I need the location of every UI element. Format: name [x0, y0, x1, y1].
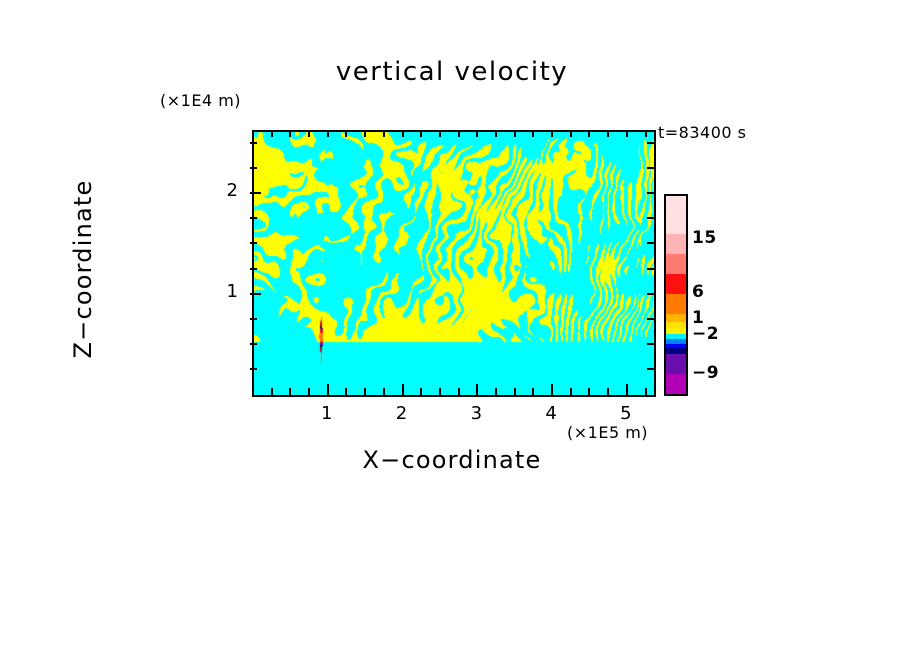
x-tick-label: 2 — [387, 403, 417, 424]
x-tick-top — [345, 130, 347, 137]
colorbar-band — [666, 196, 686, 234]
y-tick-right — [647, 268, 654, 270]
y-tick — [250, 217, 257, 219]
x-tick — [364, 388, 366, 395]
y-tick-right — [647, 167, 654, 169]
time-annotation: t=83400 s — [658, 123, 747, 142]
x-tick — [458, 388, 460, 395]
colorbar-band — [666, 274, 686, 294]
colorbar-band — [666, 314, 686, 322]
y-tick — [250, 368, 257, 370]
x-tick — [439, 388, 441, 395]
colorbar-tick-label: −2 — [692, 324, 719, 344]
colorbar-band — [666, 234, 686, 254]
y-tick-right — [647, 192, 654, 194]
y-tick — [250, 192, 261, 194]
x-tick-top — [364, 130, 366, 137]
x-tick — [626, 384, 628, 395]
x-tick — [514, 388, 516, 395]
x-tick-top — [645, 130, 647, 137]
velocity-field-canvas — [254, 132, 654, 395]
x-tick-top — [570, 130, 572, 137]
x-tick-top — [626, 130, 628, 137]
x-tick — [289, 388, 291, 395]
x-tick-top — [495, 130, 497, 137]
x-tick — [588, 388, 590, 395]
y-tick-right — [647, 242, 654, 244]
x-tick — [345, 388, 347, 395]
x-axis-title: X−coordinate — [0, 446, 904, 474]
y-tick — [250, 242, 257, 244]
x-tick — [532, 388, 534, 395]
colorbar — [664, 194, 688, 396]
x-tick — [476, 384, 478, 395]
x-tick — [327, 384, 329, 395]
chart-title: vertical velocity — [0, 57, 904, 87]
y-tick — [250, 268, 257, 270]
colorbar-band — [666, 374, 686, 394]
y-axis-title: Z−coordinate — [69, 139, 97, 399]
x-tick — [495, 388, 497, 395]
y-tick-label: 1 — [208, 281, 238, 302]
x-tick-label: 1 — [312, 403, 342, 424]
x-tick — [308, 388, 310, 395]
colorbar-tick-label: 6 — [692, 282, 704, 302]
x-tick-top — [327, 130, 329, 137]
x-tick — [271, 388, 273, 395]
x-tick-top — [402, 130, 404, 137]
x-tick-top — [439, 130, 441, 137]
x-tick — [570, 388, 572, 395]
x-tick-top — [458, 130, 460, 137]
y-tick — [250, 343, 257, 345]
colorbar-band — [666, 294, 686, 314]
y-tick-right — [647, 293, 654, 295]
x-tick — [402, 384, 404, 395]
x-tick-top — [514, 130, 516, 137]
colorbar-band — [666, 354, 686, 374]
y-tick — [250, 167, 257, 169]
plot-area — [252, 130, 656, 397]
y-tick-right — [647, 318, 654, 320]
x-tick-top — [289, 130, 291, 137]
figure-root: vertical velocity (×1E4 m) t=83400 s 123… — [0, 0, 904, 654]
y-tick-right — [647, 142, 654, 144]
x-tick-label: 3 — [461, 403, 491, 424]
x-tick — [645, 388, 647, 395]
colorbar-tick-label: 15 — [692, 228, 717, 248]
x-tick-top — [532, 130, 534, 137]
x-tick-top — [420, 130, 422, 137]
y-tick-right — [647, 368, 654, 370]
y-tick-right — [647, 217, 654, 219]
x-tick — [551, 384, 553, 395]
x-tick-label: 4 — [536, 403, 566, 424]
y-tick — [250, 142, 257, 144]
y-tick-right — [647, 343, 654, 345]
x-tick — [383, 388, 385, 395]
x-tick-label: 5 — [611, 403, 641, 424]
y-tick-label: 2 — [208, 180, 238, 201]
x-tick-top — [308, 130, 310, 137]
colorbar-band — [666, 254, 686, 274]
x-tick-top — [271, 130, 273, 137]
x-axis-unit-label: (×1E5 m) — [567, 423, 648, 442]
x-tick-top — [551, 130, 553, 137]
x-tick — [607, 388, 609, 395]
y-axis-unit-label: (×1E4 m) — [160, 91, 241, 110]
colorbar-tick-label: −9 — [692, 363, 719, 383]
x-tick-top — [383, 130, 385, 137]
x-tick — [420, 388, 422, 395]
y-tick — [250, 293, 261, 295]
x-tick-top — [588, 130, 590, 137]
y-tick — [250, 318, 257, 320]
x-tick-top — [476, 130, 478, 137]
x-tick-top — [607, 130, 609, 137]
